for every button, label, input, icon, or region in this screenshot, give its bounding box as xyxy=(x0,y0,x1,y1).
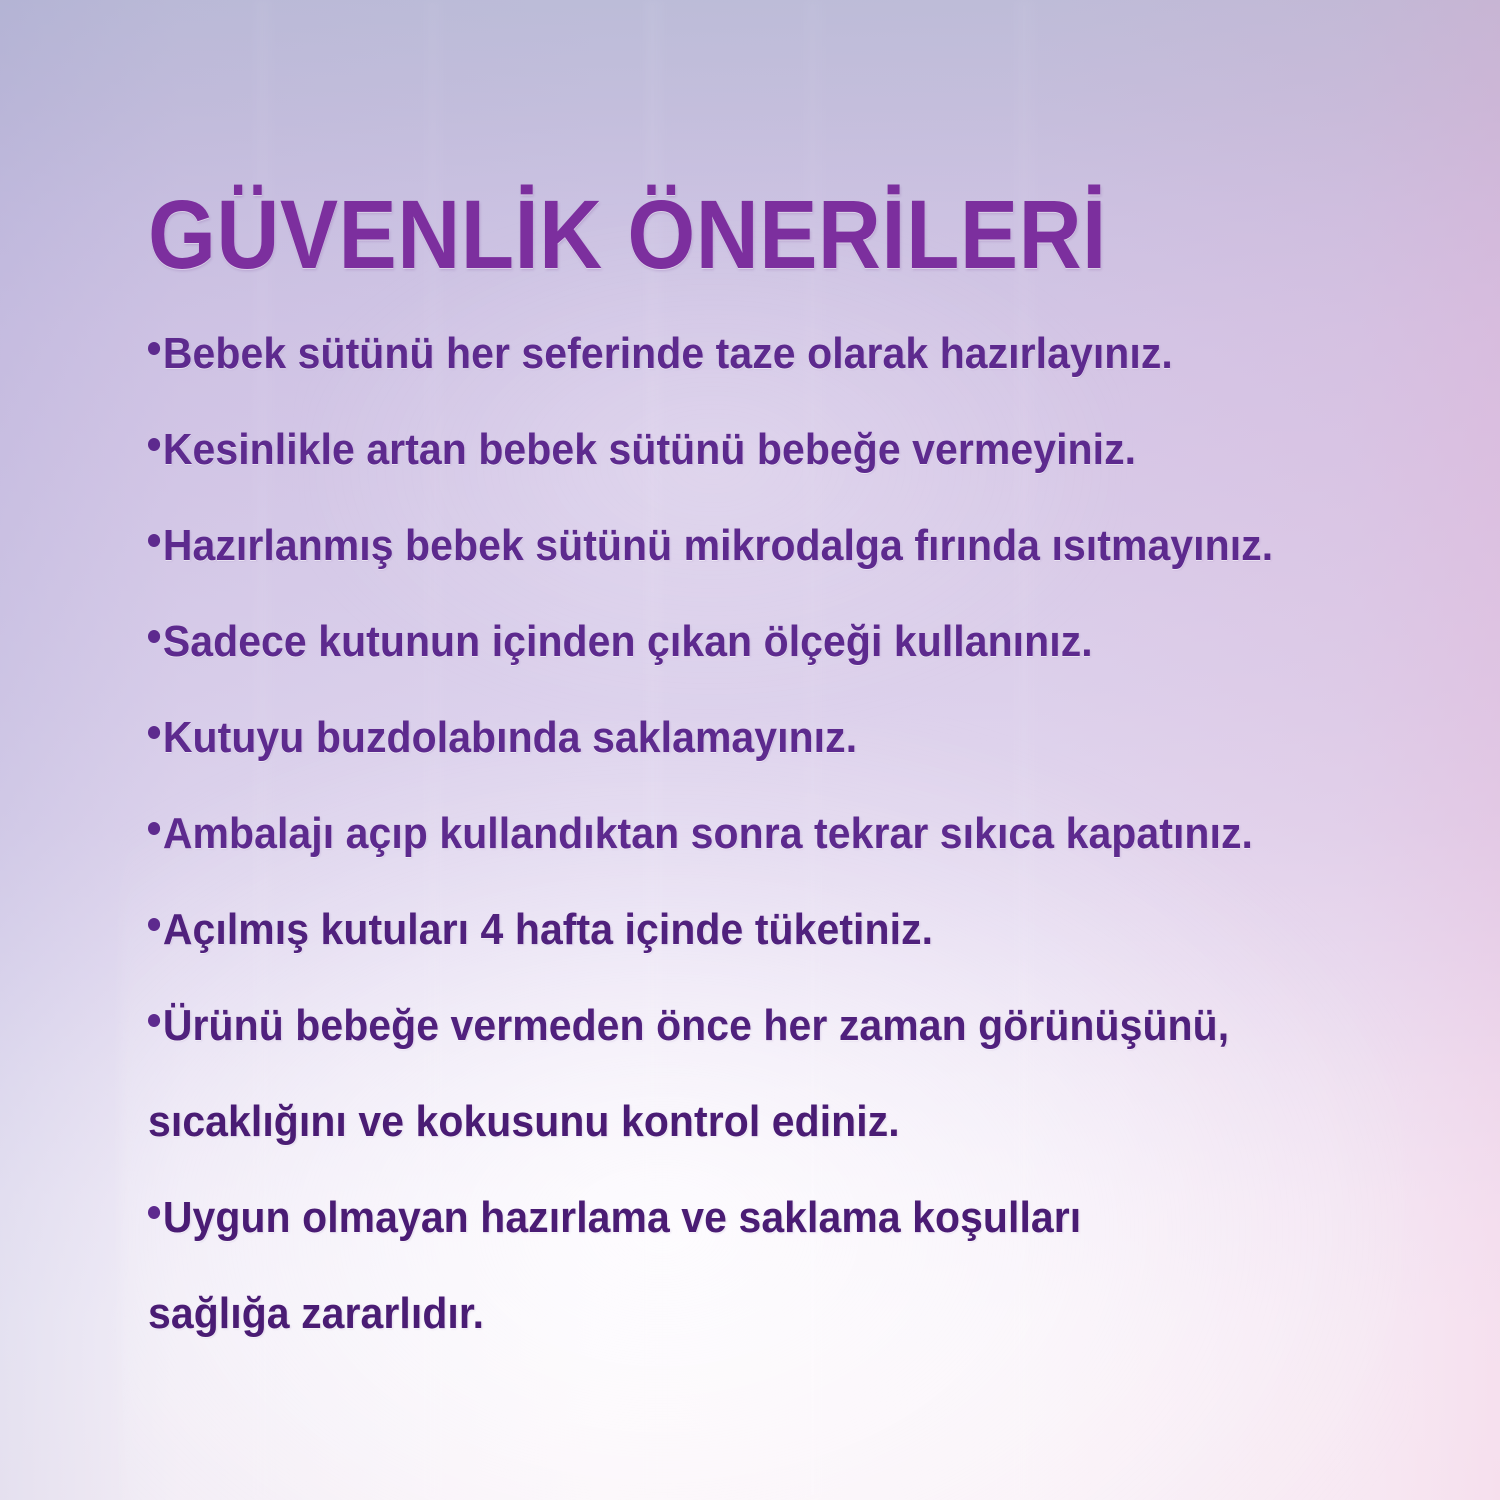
line-row: Ürünü bebeğe vermeden önce her zaman gör… xyxy=(148,978,1229,1074)
line-row: Kesinlikle artan bebek sütünü bebeğe ver… xyxy=(148,402,1136,498)
bullet-text: Kesinlikle artan bebek sütünü bebeğe ver… xyxy=(163,402,1136,498)
bullet-dot-icon xyxy=(148,726,160,739)
bullet-dot-icon xyxy=(148,822,160,835)
bullet-text: Sadece kutunun içinden çıkan ölçeği kull… xyxy=(163,594,1093,690)
line-row: Uygun olmayan hazırlama ve saklama koşul… xyxy=(148,1170,1081,1266)
safety-bullet-item: Uygun olmayan hazırlama ve saklama koşul… xyxy=(148,1170,1468,1266)
line-row: sağlığa zararlıdır. xyxy=(148,1266,484,1362)
line-row: Bebek sütünü her seferinde taze olarak h… xyxy=(148,306,1173,402)
safety-bullet-list: Bebek sütünü her seferinde taze olarak h… xyxy=(148,306,1468,1362)
line-row: Açılmış kutuları 4 hafta içinde tüketini… xyxy=(148,882,933,978)
page-title: GÜVENLİK ÖNERİLERİ xyxy=(148,183,1300,287)
bullet-dot-icon xyxy=(148,342,160,355)
line-row: Sadece kutunun içinden çıkan ölçeği kull… xyxy=(148,594,1093,690)
safety-bullet-item: Kutuyu buzdolabında saklamayınız. xyxy=(148,690,1468,786)
bullet-text: Kutuyu buzdolabında saklamayınız. xyxy=(163,690,857,786)
bullet-dot-icon xyxy=(148,1014,160,1027)
safety-recommendations-panel: GÜVENLİK ÖNERİLERİ Bebek sütünü her sefe… xyxy=(0,0,1500,1500)
bullet-text: sıcaklığını ve kokusunu kontrol ediniz. xyxy=(148,1074,900,1170)
line-row: Hazırlanmış bebek sütünü mikrodalga fırı… xyxy=(148,498,1273,594)
safety-bullet-item: Bebek sütünü her seferinde taze olarak h… xyxy=(148,306,1468,402)
bullet-dot-icon xyxy=(148,534,160,547)
safety-bullet-item: Ambalajı açıp kullandıktan sonra tekrar … xyxy=(148,786,1468,882)
safety-bullet-item: Hazırlanmış bebek sütünü mikrodalga fırı… xyxy=(148,498,1468,594)
bullet-text: Ürünü bebeğe vermeden önce her zaman gör… xyxy=(163,978,1229,1074)
bullet-text: Bebek sütünü her seferinde taze olarak h… xyxy=(163,306,1173,402)
line-row: Ambalajı açıp kullandıktan sonra tekrar … xyxy=(148,786,1253,882)
safety-bullet-item: Açılmış kutuları 4 hafta içinde tüketini… xyxy=(148,882,1468,978)
bullet-dot-icon xyxy=(148,630,160,643)
bullet-text: Açılmış kutuları 4 hafta içinde tüketini… xyxy=(163,882,933,978)
bullet-dot-icon xyxy=(148,1206,160,1219)
bullet-dot-icon xyxy=(148,438,160,451)
bullet-text: Hazırlanmış bebek sütünü mikrodalga fırı… xyxy=(163,498,1273,594)
bullet-text: Ambalajı açıp kullandıktan sonra tekrar … xyxy=(163,786,1253,882)
safety-bullet-item: Kesinlikle artan bebek sütünü bebeğe ver… xyxy=(148,402,1468,498)
bullet-dot-icon xyxy=(148,918,160,931)
safety-bullet-continuation: sıcaklığını ve kokusunu kontrol ediniz. xyxy=(148,1074,1468,1170)
bullet-text: sağlığa zararlıdır. xyxy=(148,1266,484,1362)
safety-bullet-item: Sadece kutunun içinden çıkan ölçeği kull… xyxy=(148,594,1468,690)
line-row: Kutuyu buzdolabında saklamayınız. xyxy=(148,690,857,786)
safety-bullet-continuation: sağlığa zararlıdır. xyxy=(148,1266,1468,1362)
safety-bullet-item: Ürünü bebeğe vermeden önce her zaman gör… xyxy=(148,978,1468,1074)
line-row: sıcaklığını ve kokusunu kontrol ediniz. xyxy=(148,1074,900,1170)
panel-content: GÜVENLİK ÖNERİLERİ Bebek sütünü her sefe… xyxy=(0,0,1500,1500)
bullet-text: Uygun olmayan hazırlama ve saklama koşul… xyxy=(163,1170,1081,1266)
